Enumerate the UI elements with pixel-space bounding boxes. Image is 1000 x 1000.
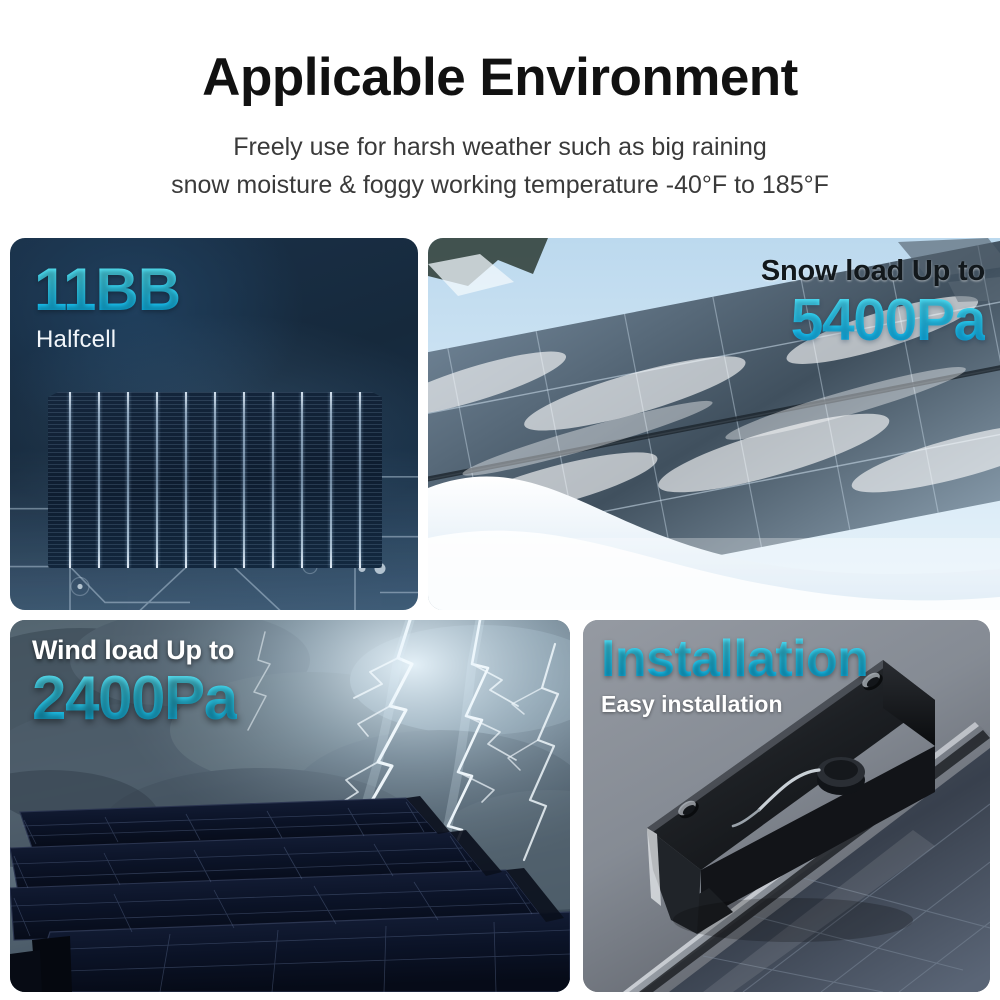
snow-load-heading: Snow load Up to 5400Pa (761, 256, 985, 350)
installation-heading: Installation Easy installation (601, 632, 868, 718)
snow-load-value: 5400Pa (761, 290, 985, 350)
wind-load-heading: Wind load Up to 2400Pa (32, 636, 237, 730)
cell-busbar (243, 392, 245, 568)
subtitle-line-2: snow moisture & foggy working temperatur… (0, 167, 1000, 203)
snow-load-label: Snow load Up to (761, 256, 985, 288)
panel-snow-load: Snow load Up to 5400Pa (428, 238, 1000, 610)
halfcell-title: 11BB (34, 260, 180, 320)
cell-busbar (185, 392, 187, 568)
cell-busbar (98, 392, 100, 568)
wind-load-value: 2400Pa (32, 667, 237, 730)
panel-halfcell: 11BB Halfcell (10, 238, 418, 610)
cell-busbar (156, 392, 158, 568)
cell-busbar (272, 392, 274, 568)
solar-cell-illustration (48, 392, 382, 568)
cell-busbar (69, 392, 71, 568)
cell-busbar (301, 392, 303, 568)
wind-load-label: Wind load Up to (32, 636, 237, 666)
panel-installation: Installation Easy installation (583, 620, 990, 992)
installation-title: Installation (601, 632, 868, 687)
panel-wind-load: Wind load Up to 2400Pa (10, 620, 570, 992)
cell-busbars (48, 392, 382, 568)
cell-busbar (330, 392, 332, 568)
cell-busbar (359, 392, 361, 568)
subtitle-line-1: Freely use for harsh weather such as big… (0, 129, 1000, 165)
halfcell-subtitle: Halfcell (36, 326, 116, 354)
page-title: Applicable Environment (0, 0, 1000, 109)
cell-busbar (127, 392, 129, 568)
cell-busbar (214, 392, 216, 568)
header-section: Applicable Environment Freely use for ha… (0, 0, 1000, 230)
installation-subtitle: Easy installation (601, 691, 868, 718)
